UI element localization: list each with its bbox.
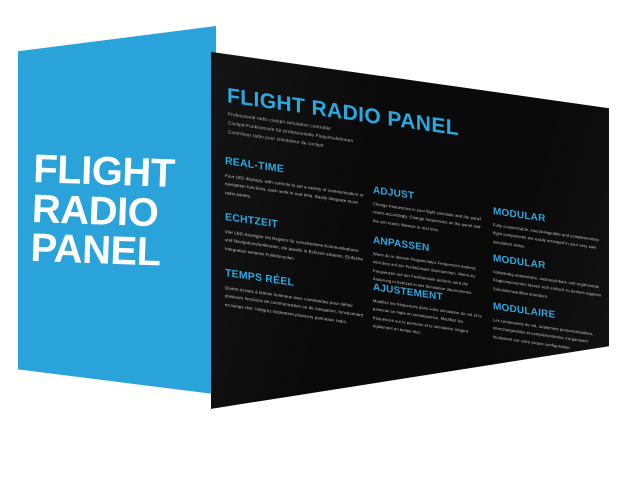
- feature-block: REAL-TIME Four LED displays, with contro…: [225, 156, 365, 218]
- product-box-scene: FLIGHT RADIO PANEL FLIGHT RADIO PANEL Pr…: [0, 0, 640, 480]
- feature-block: MODULAR Fully customizable, interchangea…: [493, 206, 603, 262]
- feature-column-2: ADJUST Change frequencies in your flight…: [373, 177, 485, 193]
- feature-block: TEMPS RÉEL Quatre écrans à témoin lumine…: [225, 268, 365, 330]
- feature-block: MODULAR Vollständig anpassbare, austausc…: [493, 253, 603, 309]
- feature-columns: REAL-TIME Four LED displays, with contro…: [225, 156, 601, 210]
- feature-block: ADJUST Change frequencies in your flight…: [373, 185, 485, 241]
- box-left-title: FLIGHT RADIO PANEL: [30, 150, 212, 275]
- feature-column-1: REAL-TIME Four LED displays, with contro…: [225, 156, 365, 176]
- box-front-content: FLIGHT RADIO PANEL Professional radio co…: [211, 46, 609, 471]
- feature-block: ECHTZEIT Vier LED-Anzeigen mit Reglern f…: [225, 212, 365, 274]
- feature-column-3: MODULAR Fully customizable, interchangea…: [493, 194, 603, 210]
- product-box: FLIGHT RADIO PANEL FLIGHT RADIO PANEL Pr…: [0, 0, 640, 480]
- left-title-line-3: PANEL: [30, 229, 209, 275]
- feature-block: MODULAIRE Les composants de vol, totalem…: [493, 301, 603, 357]
